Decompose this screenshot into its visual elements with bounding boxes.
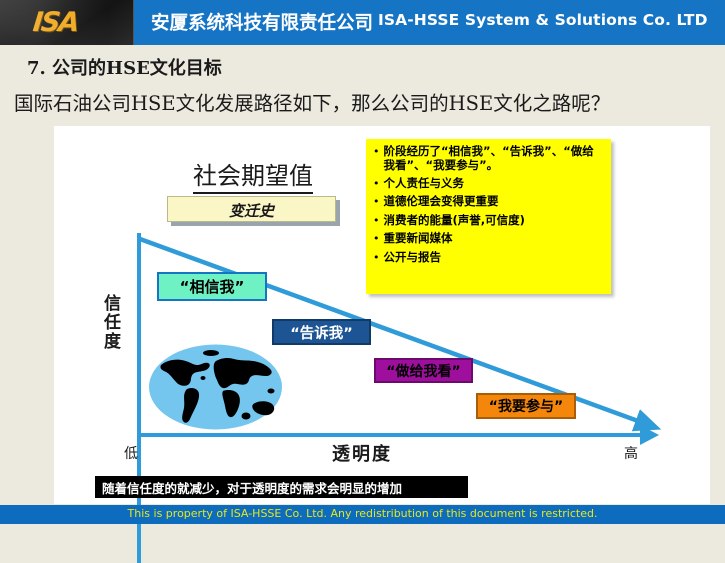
list-item: • 公开与报告 xyxy=(372,250,605,264)
stage-box-believe-me: “相信我” xyxy=(157,272,267,301)
chart-title: 社会期望值 xyxy=(193,156,313,194)
isa-logo: ISA xyxy=(31,7,79,38)
chart-x-axis xyxy=(137,433,644,437)
bullet-dot-icon: • xyxy=(372,194,384,208)
stage-box-tell-me: “告诉我” xyxy=(272,319,371,345)
bullet-dot-icon: • xyxy=(372,176,384,190)
logo-container: ISA xyxy=(0,0,134,45)
bullet-label: 阶段经历了“相信我”、“告诉我”、“做给我看”、“我要参与”。 xyxy=(384,144,606,172)
world-globe-icon xyxy=(148,343,283,431)
stage-label: “做给我看” xyxy=(386,361,460,381)
bullet-label: 公开与报告 xyxy=(384,250,606,264)
stage-label: “相信我” xyxy=(180,276,245,297)
bullet-label: 道德伦理会变得更重要 xyxy=(384,194,606,208)
company-name-en: ISA-HSSE System & Solutions Co. LTD xyxy=(378,11,708,29)
chart-y-axis-label: 信任度 xyxy=(98,294,123,351)
bullet-dot-icon: • xyxy=(372,231,384,245)
list-item: • 阶段经历了“相信我”、“告诉我”、“做给我看”、“我要参与”。 xyxy=(372,144,605,172)
list-item: • 个人责任与义务 xyxy=(372,176,605,190)
stage-label: “我要参与” xyxy=(489,396,563,416)
bullet-dot-icon: • xyxy=(372,213,384,227)
stage-box-show-me: “做给我看” xyxy=(374,358,473,383)
bullet-dot-icon: • xyxy=(372,144,384,158)
header-title-bar: 安厦系统科技有限责任公司 ISA-HSSE System & Solutions… xyxy=(134,0,725,45)
slide-footer: This is property of ISA-HSSE Co. Ltd. An… xyxy=(0,505,725,524)
history-callout-label: 变迁史 xyxy=(168,200,335,221)
bullet-label: 重要新闻媒体 xyxy=(384,231,606,245)
stage-label: “告诉我” xyxy=(290,322,353,343)
stage-box-involve-me: “我要参与” xyxy=(476,393,576,419)
bullet-dot-icon: • xyxy=(372,250,384,264)
app-header: ISA 安厦系统科技有限责任公司 ISA-HSSE System & Solut… xyxy=(0,0,725,45)
chart-x-axis-label: 透明度 xyxy=(332,440,392,466)
chart-annotation-bar: 随着信任度的就减少，对于透明度的需求会明显的增加 xyxy=(95,476,468,498)
bullet-label: 消费者的能量(声誉,可信度) xyxy=(384,213,606,227)
x-tick-high: 高 xyxy=(624,443,638,463)
x-tick-low: 低 xyxy=(124,443,138,463)
slide-question-line: 国际石油公司HSE文化发展路径如下，那么公司的HSE文化之路呢？ xyxy=(14,87,610,116)
slide-section-heading: 7. 公司的HSE文化目标 xyxy=(27,54,222,80)
list-item: • 道德伦理会变得更重要 xyxy=(372,194,605,208)
footer-copyright-text: This is property of ISA-HSSE Co. Ltd. An… xyxy=(0,507,725,520)
chart-annotation-text: 随着信任度的就减少，对于透明度的需求会明显的增加 xyxy=(95,478,402,497)
x-axis-arrow-icon xyxy=(640,425,659,445)
list-item: • 重要新闻媒体 xyxy=(372,231,605,245)
bullet-list-panel: • 阶段经历了“相信我”、“告诉我”、“做给我看”、“我要参与”。 • 个人责任… xyxy=(366,139,611,294)
list-item: • 消费者的能量(声誉,可信度) xyxy=(372,213,605,227)
bullet-label: 个人责任与义务 xyxy=(384,176,606,190)
company-name-cn: 安厦系统科技有限责任公司 xyxy=(151,9,373,35)
slide-content-panel: 社会期望值 变迁史 • 阶段经历了“相信我”、“告诉我”、“做给我看”、“我要参… xyxy=(54,126,710,504)
history-callout-box: 变迁史 xyxy=(167,196,336,222)
